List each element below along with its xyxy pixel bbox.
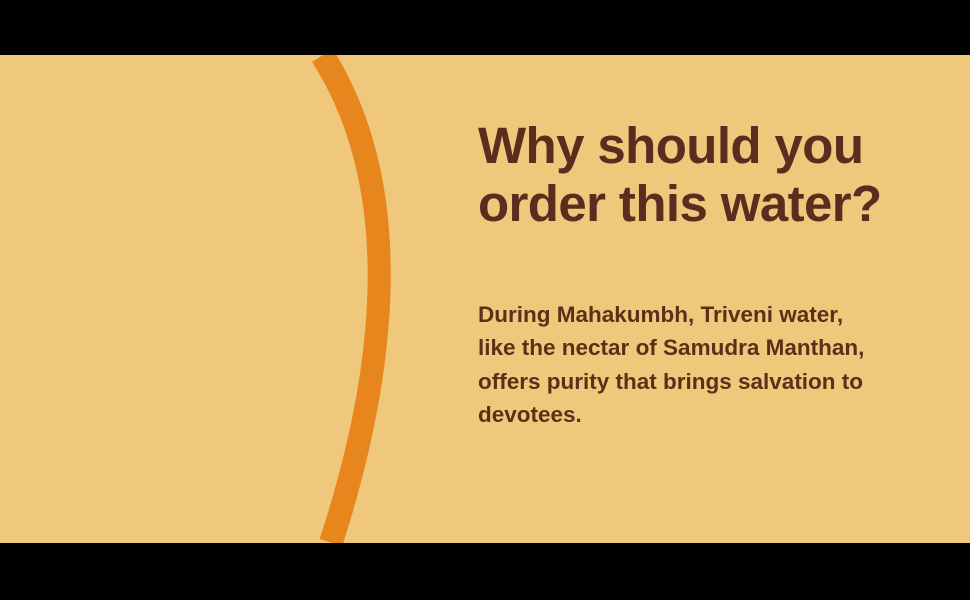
orange-accent-curve (323, 55, 381, 543)
letterbox-bottom (0, 543, 970, 600)
page-title: Why should you order this water? (478, 117, 948, 232)
promotional-banner: Why should you order this water? During … (0, 0, 970, 600)
body-copy: During Mahakumbh, Triveni water, like th… (478, 298, 952, 431)
content-band: Why should you order this water? During … (0, 55, 970, 543)
letterbox-top (0, 0, 970, 55)
text-column: Why should you order this water? During … (478, 55, 948, 543)
